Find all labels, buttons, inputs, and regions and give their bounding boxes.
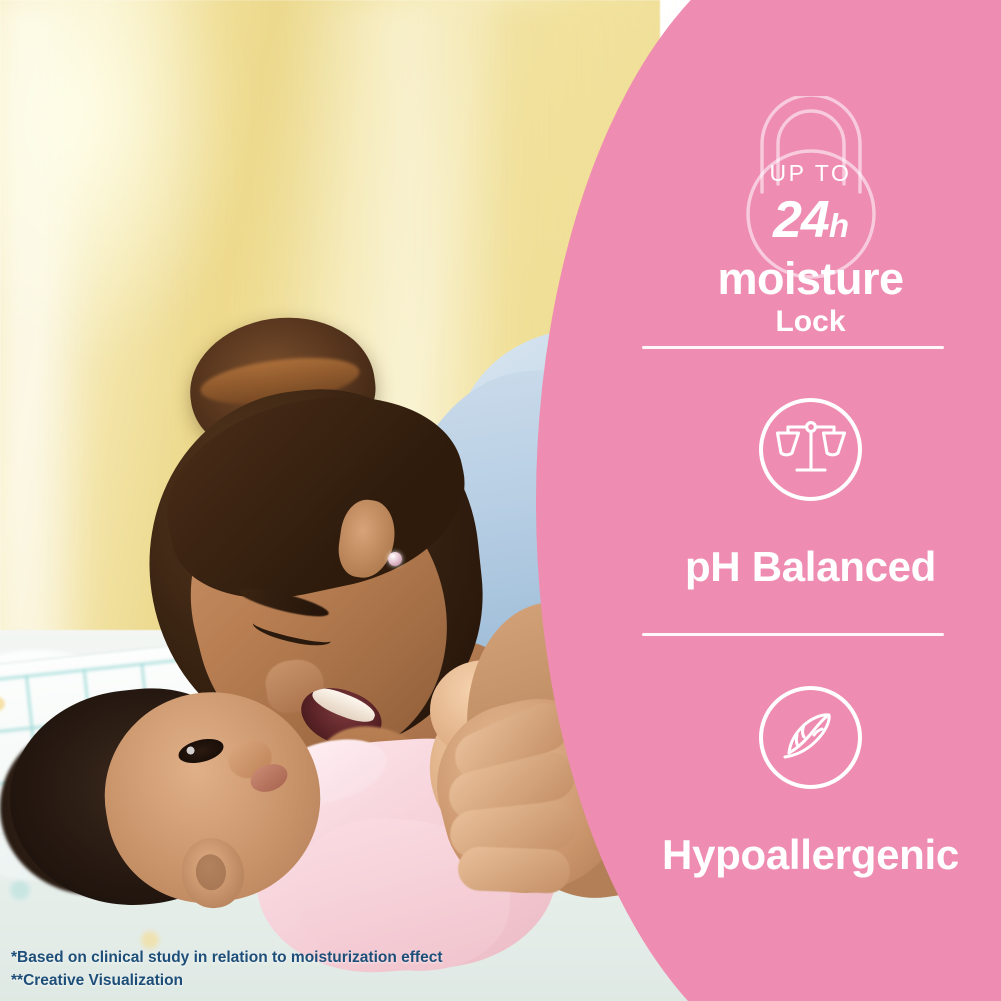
duration-unit: h [829,207,848,244]
footnote-line-1: *Based on clinical study in relation to … [11,946,443,970]
moisture-lock-text: UP TO 24h moisture Lock [620,96,1001,337]
feature-label-ph-balanced: pH Balanced [620,546,1001,588]
feature-moisture-lock: UP TO 24h moisture Lock [620,96,1001,281]
moisture-lock-eyebrow: UP TO [620,162,1001,185]
balance-scale-icon [759,398,862,501]
feature-hypoallergenic: Hypoallergenic [620,686,1001,876]
feature-list: UP TO 24h moisture Lock [620,0,1001,1001]
feature-divider [642,633,944,636]
duration-value: 24 [773,191,829,249]
photo-light-glow [0,0,260,390]
feature-label-hypoallergenic: Hypoallergenic [620,834,1001,876]
footnote-line-2: **Creative Visualization [11,969,443,993]
moisture-lock-title: moisture [620,256,1001,301]
feature-divider [642,346,944,349]
product-feature-banner: UP TO 24h moisture Lock [0,0,1001,1001]
feature-ph-balanced: pH Balanced [620,398,1001,588]
mother-earring [388,552,402,566]
mother-finger [457,846,570,894]
feather-icon [759,686,862,789]
footnotes: *Based on clinical study in relation to … [11,946,443,993]
moisture-lock-subtitle: Lock [620,307,1001,337]
moisture-lock-duration: 24h [620,194,1001,246]
